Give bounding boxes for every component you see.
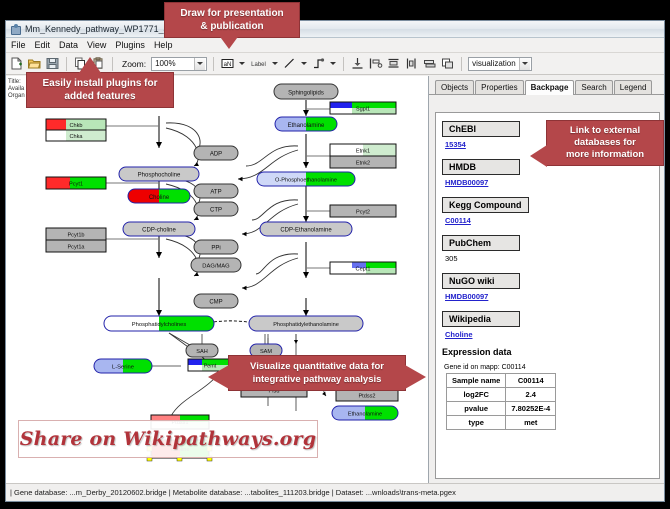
node-ethanolamine: Ethanolamine xyxy=(275,117,337,131)
status-text: | Gene database: ...m_Derby_20120602.bri… xyxy=(10,488,456,497)
svg-text:Chkb: Chkb xyxy=(69,123,82,129)
callout-arrow-up-plugins xyxy=(79,57,101,73)
align-left-icon[interactable] xyxy=(368,56,383,71)
callout-draw-for-publication: Draw for presentation & publication xyxy=(164,2,300,38)
db-header-nugo-wiki: NuGO wiki xyxy=(442,273,520,289)
toolbar-separator xyxy=(66,57,67,71)
visualization-combobox[interactable]: visualization xyxy=(468,57,532,71)
svg-text:ADP: ADP xyxy=(210,152,222,158)
node-dag-mag: DAG/MAG xyxy=(191,258,241,272)
svg-text:Pcyt1b: Pcyt1b xyxy=(67,233,84,239)
align-bottom-icon[interactable] xyxy=(350,56,365,71)
node-phosphocholine: Phosphocholine xyxy=(119,167,199,181)
svg-text:Label: Label xyxy=(251,62,266,68)
line-icon[interactable] xyxy=(282,56,297,71)
save-disk-icon[interactable] xyxy=(45,56,60,71)
tab-search[interactable]: Search xyxy=(575,80,612,94)
callout-arrow-left-visualize xyxy=(208,365,229,389)
table-cell-value: met xyxy=(506,416,556,430)
gene-box-pcyt1: Pcyt1 xyxy=(46,177,106,189)
svg-text:L-Serine: L-Serine xyxy=(112,365,134,371)
callout-link-line1: Link to external xyxy=(553,125,657,137)
table-row: Sample name C00114 xyxy=(447,374,556,388)
node-cdp-choline: CDP-choline xyxy=(123,222,195,236)
table-cell-value: 2.4 xyxy=(506,388,556,402)
svg-text:Phosphatidylcholines: Phosphatidylcholines xyxy=(132,322,187,328)
callout-visualize-line2: integrative pathway analysis xyxy=(235,373,399,386)
node-phosphatidylcholines: Phosphatidylcholines xyxy=(104,316,214,331)
callout-link-external-databases: Link to external databases for more info… xyxy=(546,120,664,166)
db-link-nugo-wiki[interactable]: HMDB00097 xyxy=(445,292,659,301)
svg-text:CDP-Ethanolamine: CDP-Ethanolamine xyxy=(280,228,332,234)
tab-strip: Objects Properties Backpage Search Legen… xyxy=(429,80,664,95)
menu-item-view[interactable]: View xyxy=(87,40,106,50)
node-cmp: CMP xyxy=(194,294,238,308)
gene-box-cept1: Cept1 xyxy=(330,262,396,274)
table-row: type met xyxy=(447,416,556,430)
tab-legend[interactable]: Legend xyxy=(614,80,653,94)
callout-draw-line2: & publication xyxy=(171,20,293,33)
db-value-pubchem: 305 xyxy=(445,254,659,263)
chevron-down-icon[interactable] xyxy=(330,62,336,65)
table-row: log2FC 2.4 xyxy=(447,388,556,402)
gene-box-sgpl1: Sgpl1 xyxy=(330,102,396,114)
svg-text:DAG/MAG: DAG/MAG xyxy=(202,264,230,270)
svg-text:Pcyt1: Pcyt1 xyxy=(69,182,83,188)
svg-text:CDP-choline: CDP-choline xyxy=(142,228,176,234)
node-ethanolamine-bottom: Ethanolamine xyxy=(332,406,398,420)
menu-item-file[interactable]: File xyxy=(11,40,26,50)
callout-install-plugins: Easily install plugins for added feature… xyxy=(26,72,174,108)
table-cell-key: log2FC xyxy=(447,388,506,402)
gene-box-pcyt2: Pcyt2 xyxy=(330,205,396,217)
chevron-down-icon[interactable] xyxy=(301,62,307,65)
menu-item-edit[interactable]: Edit xyxy=(35,40,51,50)
gene-box-etnk1: Etnk1 xyxy=(330,144,396,156)
svg-text:SAH: SAH xyxy=(196,349,208,355)
zoom-label: Zoom: xyxy=(122,59,146,69)
node-cdp-ethanolamine: CDP-Ethanolamine xyxy=(260,222,352,236)
svg-text:Ethanolamine: Ethanolamine xyxy=(348,412,382,418)
svg-text:Pcyt1a: Pcyt1a xyxy=(67,245,85,251)
db-header-kegg-compound: Kegg Compound xyxy=(442,197,529,213)
svg-text:Phosphatidylethanolamine: Phosphatidylethanolamine xyxy=(273,322,339,328)
table-cell-key: Sample name xyxy=(447,374,506,388)
node-l-serine-left: L-Serine xyxy=(94,359,152,373)
title-bar: Mm_Kennedy_pathway_WP1771_45176.gpml xyxy=(6,21,664,38)
visualization-value: visualization xyxy=(472,59,516,68)
new-document-icon[interactable] xyxy=(9,56,24,71)
toolbar-separator xyxy=(112,57,113,71)
node-sah: SAH xyxy=(186,344,218,357)
callout-share-wikipathways: Share on Wikipathways.org xyxy=(18,420,318,458)
svg-text:CMP: CMP xyxy=(209,300,222,306)
table-row: pvalue 7.80252E-4 xyxy=(447,402,556,416)
toolbar-separator xyxy=(461,57,462,71)
backpage-panel[interactable]: ChEBI 15354 HMDB HMDB00097 Kegg Compound… xyxy=(435,112,660,479)
node-ctp: CTP xyxy=(194,202,238,216)
menu-item-help[interactable]: Help xyxy=(154,40,173,50)
zoom-combobox[interactable]: 100% xyxy=(151,57,207,71)
distribute-horizontal-icon[interactable] xyxy=(404,56,419,71)
menu-bar: File Edit Data View Plugins Help xyxy=(6,38,664,53)
menu-item-data[interactable]: Data xyxy=(59,40,78,50)
tab-backpage[interactable]: Backpage xyxy=(525,80,575,95)
screenshot-root: Mm_Kennedy_pathway_WP1771_45176.gpml Fil… xyxy=(0,0,670,509)
callout-plugins-line1: Easily install plugins for xyxy=(33,77,167,90)
gene-box-etnk2: Etnk2 xyxy=(330,156,396,168)
chevron-down-icon[interactable] xyxy=(272,62,278,65)
node-o-phosphoethanolamine: O-Phosphoethanolamine xyxy=(257,172,355,186)
svg-text:Ptdss2: Ptdss2 xyxy=(358,394,375,400)
table-cell-key: pvalue xyxy=(447,402,506,416)
distribute-vertical-icon[interactable] xyxy=(386,56,401,71)
callout-link-line3: more information xyxy=(553,149,657,161)
status-bar: | Gene database: ...m_Derby_20120602.bri… xyxy=(6,483,664,501)
gene-box-pcyt1b: Pcyt1b xyxy=(46,228,106,240)
svg-text:Sgpl1: Sgpl1 xyxy=(356,107,370,113)
svg-text:aN: aN xyxy=(224,62,232,68)
gene-box-chkb: Chkb xyxy=(46,119,106,130)
table-cell-value: 7.80252E-4 xyxy=(506,402,556,416)
db-link-wikipedia[interactable]: Choline xyxy=(445,330,659,339)
open-folder-icon[interactable] xyxy=(27,56,42,71)
zoom-value: 100% xyxy=(155,59,175,68)
node-adp: ADP xyxy=(194,146,238,160)
callout-link-line2: databases for xyxy=(553,137,657,149)
table-cell-key: type xyxy=(447,416,506,430)
node-ppi: PPi xyxy=(194,240,238,254)
callout-arrow-down-draw xyxy=(218,34,240,49)
node-phosphatidylethanolamine: Phosphatidylethanolamine xyxy=(249,316,363,331)
app-icon xyxy=(10,24,21,35)
svg-text:Ethanolamine: Ethanolamine xyxy=(288,123,325,129)
db-header-pubchem: PubChem xyxy=(442,235,520,251)
expression-data-title: Expression data xyxy=(442,347,659,357)
callout-arrow-right-visualize xyxy=(405,365,426,389)
callout-visualize-quantitative-data: Visualize quantitative data for integrat… xyxy=(228,355,406,391)
svg-text:Etnk1: Etnk1 xyxy=(356,149,370,155)
callout-arrow-left-link xyxy=(530,145,547,167)
stack-icon[interactable] xyxy=(422,56,437,71)
callout-draw-line1: Draw for presentation xyxy=(171,7,293,20)
chevron-down-icon[interactable] xyxy=(239,62,245,65)
callout-plugins-line2: added features xyxy=(33,90,167,103)
table-cell-value: C00114 xyxy=(506,374,556,388)
chevron-down-icon[interactable] xyxy=(194,58,205,70)
node-sphingolipids: Sphingolipids xyxy=(274,84,338,99)
svg-text:Choline: Choline xyxy=(149,195,170,201)
svg-text:Cept1: Cept1 xyxy=(356,267,371,273)
share-text: Share on Wikipathways.org xyxy=(20,428,316,450)
db-link-kegg-compound[interactable]: C00114 xyxy=(445,216,659,225)
node-atp: ATP xyxy=(194,184,238,198)
db-header-wikipedia: Wikipedia xyxy=(442,311,520,327)
toolbar-separator xyxy=(343,57,344,71)
callout-visualize-line1: Visualize quantitative data for xyxy=(235,360,399,373)
data-node-icon[interactable]: aN xyxy=(220,56,235,71)
svg-text:Sphingolipids: Sphingolipids xyxy=(288,91,324,97)
db-link-hmdb[interactable]: HMDB00097 xyxy=(445,178,659,187)
node-choline: Choline xyxy=(128,189,190,203)
tab-objects[interactable]: Objects xyxy=(435,80,474,94)
svg-text:ATP: ATP xyxy=(210,190,221,196)
gene-box-pcyt1a: Pcyt1a xyxy=(46,240,106,252)
expression-data-table: Sample name C00114 log2FC 2.4 pvalue 7.8… xyxy=(446,373,556,430)
toolbar-separator xyxy=(213,57,214,71)
gene-box-chka: Chka xyxy=(46,130,106,141)
svg-text:CTP: CTP xyxy=(210,208,222,214)
svg-text:Chka: Chka xyxy=(69,134,83,140)
svg-text:PPi: PPi xyxy=(211,246,220,252)
tab-properties[interactable]: Properties xyxy=(475,80,523,94)
svg-text:Phosphocholine: Phosphocholine xyxy=(138,173,181,179)
svg-text:Pcyt2: Pcyt2 xyxy=(356,210,370,216)
db-header-chebi: ChEBI xyxy=(442,121,520,137)
label-icon[interactable]: Label xyxy=(249,56,268,71)
db-header-hmdb: HMDB xyxy=(442,159,520,175)
order-icon[interactable] xyxy=(440,56,455,71)
gene-id-on-mapp: Gene id on mapp: C00114 xyxy=(444,364,659,371)
svg-text:Etnk2: Etnk2 xyxy=(356,161,370,167)
connector-icon[interactable] xyxy=(311,56,326,71)
svg-text:O-Phosphoethanolamine: O-Phosphoethanolamine xyxy=(275,178,337,184)
chevron-down-icon[interactable] xyxy=(519,58,530,70)
menu-item-plugins[interactable]: Plugins xyxy=(115,40,145,50)
